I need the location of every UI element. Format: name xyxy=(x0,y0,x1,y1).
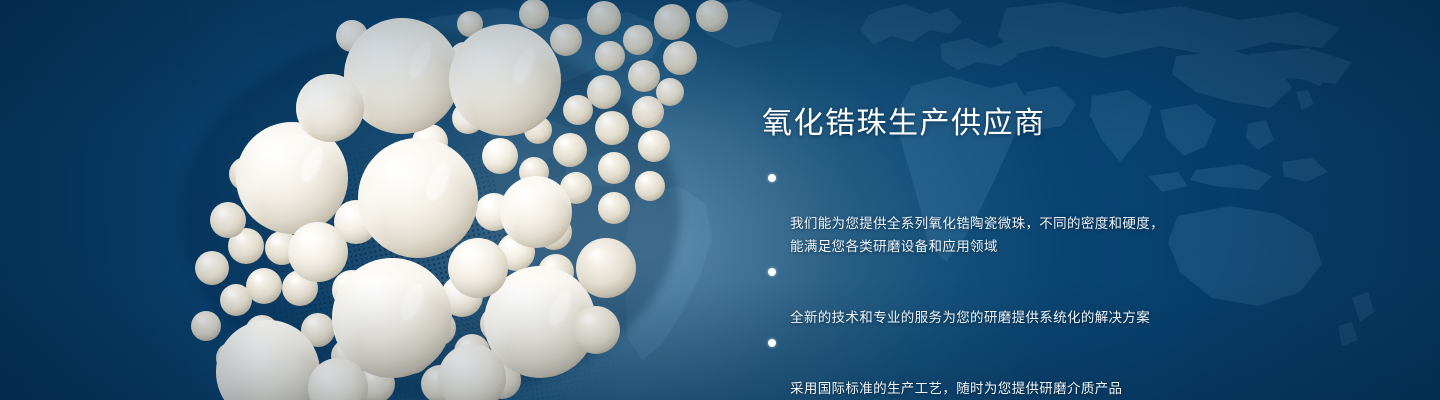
hero-banner: 氧化锆珠生产供应商 我们能为您提供全系列氧化锆陶瓷微珠，不同的密度和硬度， 能满… xyxy=(0,0,1440,400)
bullet-dot-icon xyxy=(768,268,776,276)
feature-bullet-list: 我们能为您提供全系列氧化锆陶瓷微珠，不同的密度和硬度， 能满足您各类研磨设备和应… xyxy=(762,166,1232,400)
list-item: 采用国际标准的生产工艺，随时为您提供研磨介质产品 xyxy=(762,331,1232,400)
banner-copy-block: 氧化锆珠生产供应商 我们能为您提供全系列氧化锆陶瓷微珠，不同的密度和硬度， 能满… xyxy=(762,104,1232,400)
bullet-dot-icon xyxy=(768,174,776,182)
list-item: 我们能为您提供全系列氧化锆陶瓷微珠，不同的密度和硬度， 能满足您各类研磨设备和应… xyxy=(762,166,1232,258)
list-item-text: 采用国际标准的生产工艺，随时为您提供研磨介质产品 xyxy=(790,381,1122,396)
bullet-dot-icon xyxy=(768,339,776,347)
page-title: 氧化锆珠生产供应商 xyxy=(762,104,1232,144)
list-item-text: 全新的技术和专业的服务为您的研磨提供系统化的解决方案 xyxy=(790,310,1150,325)
list-item-text: 我们能为您提供全系列氧化锆陶瓷微珠，不同的密度和硬度， 能满足您各类研磨设备和应… xyxy=(790,216,1164,254)
list-item: 全新的技术和专业的服务为您的研磨提供系统化的解决方案 xyxy=(762,260,1232,329)
